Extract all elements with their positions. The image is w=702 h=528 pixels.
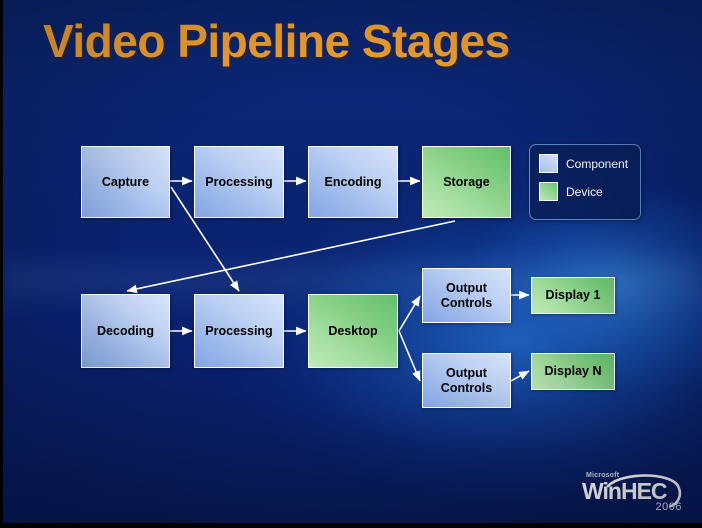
- node-processing-top[interactable]: Processing: [194, 146, 284, 218]
- node-display-1[interactable]: Display 1: [531, 277, 615, 314]
- logo-brand-text: WinHEC: [582, 478, 667, 505]
- node-desktop[interactable]: Desktop: [308, 294, 398, 368]
- logo-year-text: 2006: [656, 501, 682, 513]
- logo-win-text: Win: [582, 478, 621, 504]
- node-display-n-label: Display N: [545, 364, 602, 378]
- node-output-controls-n[interactable]: OutputControls: [422, 353, 511, 408]
- component-swatch-icon: [539, 154, 558, 173]
- node-desktop-label: Desktop: [328, 324, 377, 338]
- node-storage-label: Storage: [443, 175, 490, 189]
- node-display-1-label: Display 1: [546, 288, 601, 302]
- node-capture[interactable]: Capture: [81, 146, 170, 218]
- node-output-controls-n-label: OutputControls: [441, 366, 492, 395]
- slide-title: Video Pipeline Stages: [43, 14, 510, 68]
- node-encoding[interactable]: Encoding: [308, 146, 398, 218]
- node-capture-label: Capture: [102, 175, 149, 189]
- node-processing-bottom[interactable]: Processing: [194, 294, 284, 368]
- node-processing-top-label: Processing: [205, 175, 272, 189]
- slide-canvas: Video Pipeline Stages Capture Processing: [0, 0, 702, 528]
- legend-item-component: Component: [539, 154, 640, 173]
- node-decoding-label: Decoding: [97, 324, 154, 338]
- node-processing-bottom-label: Processing: [205, 324, 272, 338]
- node-output-controls-1[interactable]: OutputControls: [422, 268, 511, 323]
- winhec-logo: Microsoft WinHEC 2006: [578, 470, 688, 518]
- node-output-controls-1-label: OutputControls: [441, 281, 492, 310]
- node-encoding-label: Encoding: [325, 175, 382, 189]
- device-swatch-icon: [539, 182, 558, 201]
- node-storage[interactable]: Storage: [422, 146, 511, 218]
- legend-item-device: Device: [539, 182, 640, 201]
- node-decoding[interactable]: Decoding: [81, 294, 170, 368]
- legend-item-device-label: Device: [566, 185, 603, 199]
- legend-panel: Component Device: [529, 144, 641, 220]
- legend-item-component-label: Component: [566, 157, 628, 171]
- node-display-n[interactable]: Display N: [531, 353, 615, 390]
